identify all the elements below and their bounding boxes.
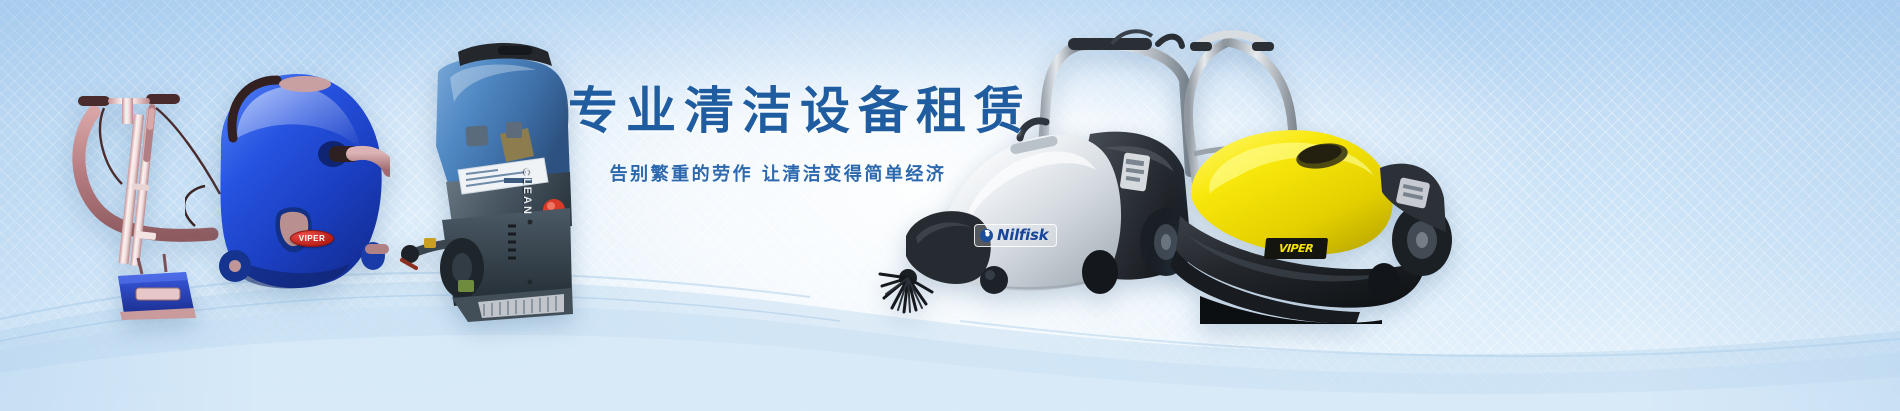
yellow-machine-brand-badge: VIPER xyxy=(1264,238,1328,259)
nilfisk-brand-label: Nilfisk xyxy=(997,228,1048,243)
blue-extractor-brand-badge: VIPER xyxy=(290,230,334,247)
banner-subheadline: 告别繁重的劳作 让清洁变得简单经济 xyxy=(568,160,988,186)
machine-walk-behind-scrubber: CLEAN xyxy=(358,30,573,322)
machine-yellow-vacuum-sweeper: VIPER xyxy=(1170,28,1480,324)
nilfisk-brand-plate: Nilfisk xyxy=(974,224,1057,247)
scrubber-side-label: CLEAN xyxy=(521,168,533,216)
promo-banner: VIPER xyxy=(0,0,1900,411)
banner-text-block: 专业清洁设备租赁 告别繁重的劳作 让清洁变得简单经济 xyxy=(568,82,988,186)
banner-headline: 专业清洁设备租赁 xyxy=(568,82,988,140)
nilfisk-swirl-icon xyxy=(980,229,993,242)
yellow-machine-brand-label: VIPER xyxy=(1278,242,1314,255)
